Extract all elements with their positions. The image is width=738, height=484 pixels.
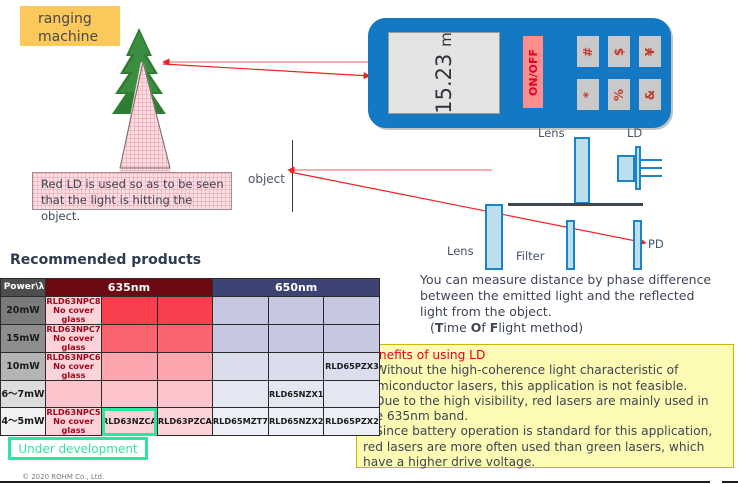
power-button[interactable]: ON/OFF [523, 36, 543, 108]
tof-method-line: (Time Of Flight method) [420, 320, 730, 336]
table-row: 15mWRLD63NPC7No cover glass [1, 325, 380, 353]
empty-cell [157, 325, 212, 353]
product-cell: RLD63PZCA [157, 408, 212, 436]
key-button-3[interactable]: ¥ [639, 36, 661, 67]
empty-cell [157, 353, 212, 381]
key-button-4[interactable]: * [577, 79, 599, 110]
product-cell: RLD63NZCA [102, 408, 158, 436]
power-button-label: ON/OFF [527, 49, 540, 96]
red-ld-callout-line1: Red LD is used so as to be seen [41, 176, 231, 192]
key-button-6[interactable]: & [639, 79, 661, 110]
table-row: 10mWRLD63NPC6No cover glassRLD65PZX3 [1, 353, 380, 381]
key-label-4: * [581, 91, 595, 97]
empty-cell [102, 325, 158, 353]
object-reference-line [292, 140, 293, 212]
key-label-3: ¥ [643, 47, 657, 55]
tof-line-3: light from the object. [420, 304, 730, 320]
tof-ime: ime [443, 320, 470, 335]
empty-cell [212, 325, 268, 353]
benefits-panel: Benefits of using LD ・Without the high-c… [356, 344, 734, 468]
empty-cell [268, 353, 324, 381]
tof-explanation: You can measure distance by phase differ… [420, 272, 730, 336]
footer-copyright: © 2020 ROHM Co., Ltd. [22, 473, 104, 481]
object-label: object [248, 172, 285, 186]
empty-cell [102, 381, 158, 408]
optical-path-diagram: Lens LD Lens Filter PD [418, 125, 738, 270]
product-cell: RLD65PZX3 [324, 353, 380, 381]
table-row: 20mWRLD63NPC8No cover glass [1, 297, 380, 325]
filter-label: Filter [516, 249, 544, 263]
benefits-bullet-2: ・Due to the high visibility, red lasers … [363, 394, 727, 425]
emitter-lens-label: Lens [538, 126, 565, 140]
table-row-power-label: 15mW [1, 325, 46, 353]
under-development-legend: Under development [8, 437, 148, 460]
pd-label: PD [648, 237, 664, 251]
empty-cell [212, 297, 268, 325]
table-group-header-635: 635nm [46, 279, 213, 297]
ld-pin-1 [641, 159, 662, 161]
tof-f-lower: f [481, 320, 489, 335]
tof-line-1: You can measure distance by phase differ… [420, 272, 730, 288]
recommended-products-title: Recommended products [10, 252, 201, 268]
product-cell: RLD65PZX2 [324, 408, 380, 436]
device-display: 15.23 m [388, 32, 500, 114]
receiver-lens [485, 204, 503, 270]
empty-cell [157, 297, 212, 325]
display-value: 15.23 [432, 54, 456, 114]
empty-cell [102, 297, 158, 325]
empty-cell [324, 325, 380, 353]
optical-bench-divider [508, 203, 643, 206]
table-row: 6～7mWRLD65NZX1 [1, 381, 380, 408]
table-corner-header: Power\λ [1, 279, 46, 297]
empty-cell [102, 353, 158, 381]
key-label-1: # [581, 46, 595, 56]
key-label-5: % [612, 88, 626, 100]
empty-cell [212, 381, 268, 408]
table-row: 4～5mWRLD63NPC5No cover glassRLD63NZCARLD… [1, 408, 380, 436]
optical-filter [566, 220, 575, 270]
footer-rule-right [722, 481, 738, 483]
receiver-lens-label: Lens [447, 244, 474, 258]
benefits-bullet-3: ・Since battery operation is standard for… [363, 424, 727, 470]
red-ld-callout-line2: that the light is hitting the object. [41, 192, 231, 224]
ld-package-body [617, 155, 635, 182]
product-cell: RLD63NPC8No cover glass [46, 297, 102, 325]
photodiode [633, 220, 642, 270]
tof-line-2: between the emitted light and the reflec… [420, 288, 730, 304]
table-header-row: Power\λ 635nm 650nm [1, 279, 380, 297]
key-label-6: & [643, 89, 657, 99]
benefits-bullet-1: ・Without the high-coherence light charac… [363, 363, 727, 394]
emitter-lens [574, 137, 590, 204]
ld-pin-2 [641, 167, 662, 169]
product-cell: RLD63NPC5No cover glass [46, 408, 102, 436]
empty-cell [268, 325, 324, 353]
key-button-5[interactable]: % [608, 79, 630, 110]
empty-cell [212, 353, 268, 381]
tof-light: light method) [498, 320, 583, 335]
device-keypad: # $ ¥ * % & [577, 36, 661, 110]
table-group-header-650: 650nm [212, 279, 380, 297]
table-row-power-label: 6～7mW [1, 381, 46, 408]
display-unit: m [437, 32, 455, 47]
key-button-1[interactable]: # [577, 36, 599, 67]
recommended-products-table: Power\λ 635nm 650nm 20mWRLD63NPC8No cove… [0, 278, 380, 436]
footer-rule-left [0, 481, 710, 483]
empty-cell [157, 381, 212, 408]
product-cell: RLD65NZX1 [268, 381, 324, 408]
key-button-2[interactable]: $ [608, 36, 630, 67]
empty-cell [324, 297, 380, 325]
product-cell: RLD63NPC7No cover glass [46, 325, 102, 353]
product-cell: RLD65MZT7 [212, 408, 268, 436]
tof-o: O [471, 320, 482, 335]
light-cone [110, 62, 180, 177]
ld-label: LD [627, 126, 642, 140]
key-label-2: $ [612, 47, 626, 55]
table-row-power-label: 10mW [1, 353, 46, 381]
ld-pin-3 [641, 175, 662, 177]
under-development-label: Under development [18, 442, 137, 456]
device-display-reading: 15.23 m [432, 32, 456, 113]
empty-cell [268, 297, 324, 325]
product-cell: RLD65NZX2 [268, 408, 324, 436]
table-row-power-label: 4～5mW [1, 408, 46, 436]
product-cell: RLD63NPC6No cover glass [46, 353, 102, 381]
empty-cell [46, 381, 102, 408]
red-ld-callout: Red LD is used so as to be seen that the… [32, 172, 232, 210]
table-row-power-label: 20mW [1, 297, 46, 325]
empty-cell [324, 381, 380, 408]
benefits-title: Benefits of using LD [363, 348, 727, 363]
